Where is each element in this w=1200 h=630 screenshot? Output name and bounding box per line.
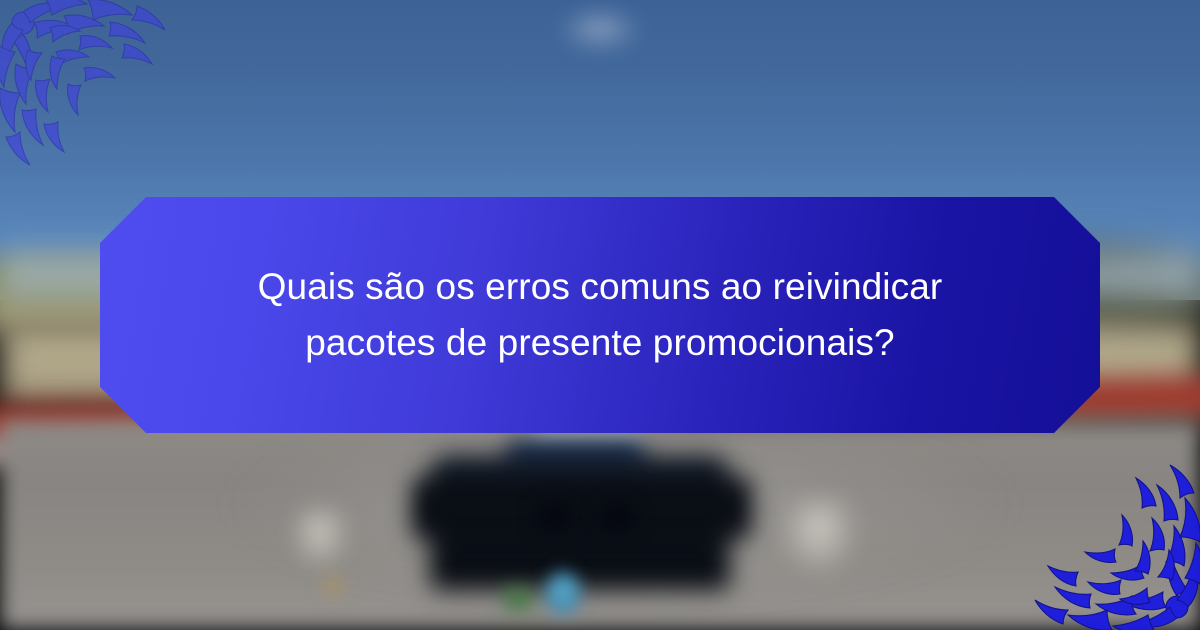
car-duct-left [536,500,574,534]
headline-banner: Quais são os erros comuns ao reivindicar… [100,197,1100,433]
car-duct-right [598,500,636,534]
headline-text: Quais são os erros comuns ao reivindicar… [160,259,1040,371]
sun-glow [560,8,640,50]
car-rear-wing [412,478,752,538]
amber-marker [318,575,348,597]
car-green-accent [500,584,536,614]
share-card: Quais são os erros comuns ao reivindicar… [0,0,1200,630]
car-rain-light [545,570,581,616]
track-marker-right [780,498,858,576]
track-marker-left [290,508,350,570]
